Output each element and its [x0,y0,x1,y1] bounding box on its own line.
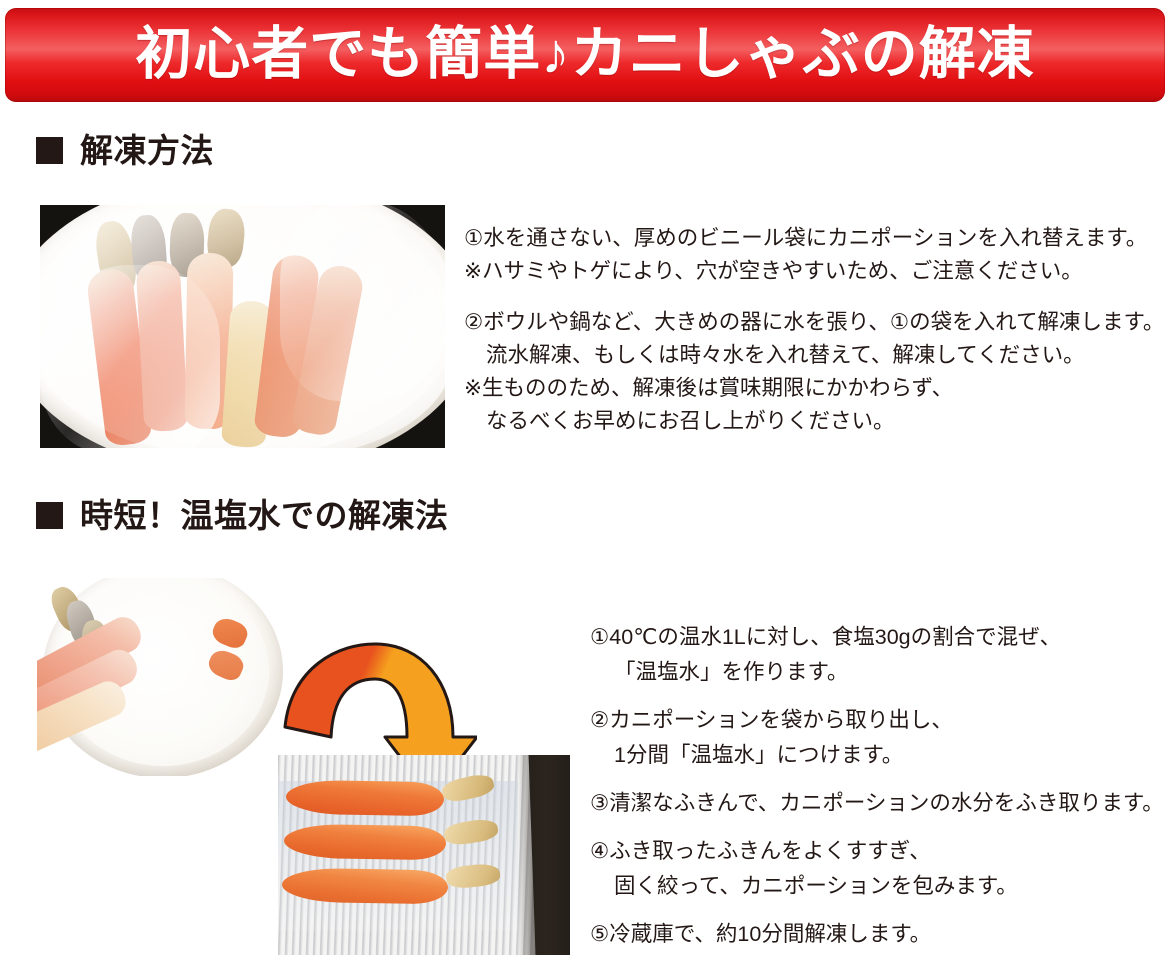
instruction-line: 固く絞って、カニポーションを包みます。 [590,876,1164,911]
instruction-line: ※ハサミやトゲにより、穴が空きやすいため、ご注意ください。 [464,261,1164,294]
instruction-line: ②カニポーションを袋から取り出し、 [590,710,1164,745]
photo-crab-before-thawing [37,578,285,776]
instruction-paragraph: ②ボウルや鍋など、大きめの器に水を張り、①の袋を入れて解凍します。 流水解凍、も… [464,312,1164,444]
filled-square-icon [36,137,63,164]
section-heading-label: 解凍方法 [80,134,214,167]
photo-bagged-crab-portions [40,205,445,448]
instruction-line: ④ふき取ったふきんをよくすすぎ、 [590,841,1164,876]
instruction-line: 「温塩水」を作ります。 [590,662,1164,697]
instruction-step: ①40℃の温水1Lに対し、食塩30gの割合で混ぜ、 「温塩水」を作ります。 [590,627,1164,697]
page-header-banner: 初心者でも簡単♪カニしゃぶの解凍 [5,8,1165,102]
section-heading-quick-method: 時短！温塩水での解凍法 [36,499,449,532]
thawing-method-instructions: ①水を通さない、厚めのビニール袋にカニポーションを入れ替えます。 ※ハサミやトゲ… [464,228,1164,444]
instruction-paragraph: ①水を通さない、厚めのビニール袋にカニポーションを入れ替えます。 ※ハサミやトゲ… [464,228,1164,294]
page-title: 初心者でも簡単♪カニしゃぶの解凍 [135,26,1035,83]
photo-crab-after-thawing [278,755,570,955]
instruction-step: ②カニポーションを袋から取り出し、 1分間「温塩水」につけます。 [590,710,1164,780]
quick-method-instructions: ①40℃の温水1Lに対し、食塩30gの割合で混ぜ、 「温塩水」を作ります。 ②カ… [590,627,1164,959]
instruction-line: ①水を通さない、厚めのビニール袋にカニポーションを入れ替えます。 [464,228,1164,261]
instruction-line: ※生もののため、解凍後は賞味期限にかかわらず、 [464,378,1164,411]
instruction-line: ①40℃の温水1Lに対し、食塩30gの割合で混ぜ、 [590,627,1164,662]
instruction-step: ⑤冷蔵庫で、約10分間解凍します。 [590,924,1164,959]
instruction-line: ②ボウルや鍋など、大きめの器に水を張り、①の袋を入れて解凍します。 [464,312,1164,345]
instruction-line: 流水解凍、もしくは時々水を入れ替えて、解凍してください。 [464,345,1164,378]
instruction-line: ⑤冷蔵庫で、約10分間解凍します。 [590,924,1164,959]
instruction-step: ③清潔なふきんで、カニポーションの水分をふき取ります。 [590,793,1164,828]
instruction-step: ④ふき取ったふきんをよくすすぎ、 固く絞って、カニポーションを包みます。 [590,841,1164,911]
instruction-line: 1分間「温塩水」につけます。 [590,745,1164,780]
section-heading-label: 時短！温塩水での解凍法 [80,499,449,532]
section-heading-thawing-method: 解凍方法 [36,134,214,167]
instruction-line: なるべくお早めにお召し上がりください。 [464,411,1164,444]
instruction-line: ③清潔なふきんで、カニポーションの水分をふき取ります。 [590,793,1164,828]
filled-square-icon [36,502,63,529]
